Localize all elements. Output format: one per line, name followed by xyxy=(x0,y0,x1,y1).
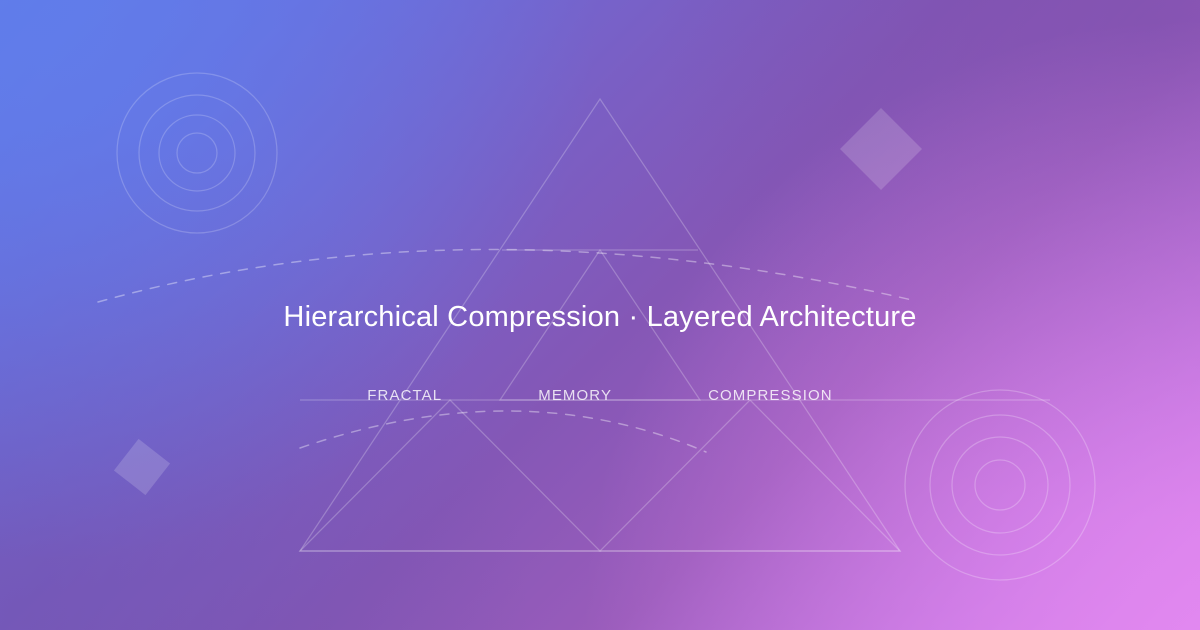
page-title: Hierarchical Compression · Layered Archi… xyxy=(283,300,916,335)
hero-tag-memory: MEMORY xyxy=(538,387,612,404)
hero-tag-compression: COMPRESSION xyxy=(708,387,833,404)
hero-banner: Hierarchical Compression · Layered Archi… xyxy=(0,0,1200,630)
ring-mid-outer-icon xyxy=(139,95,255,211)
hero-tag-fractal: FRACTAL xyxy=(367,387,442,404)
hero-content: Hierarchical Compression · Layered Archi… xyxy=(0,300,1200,404)
ring-mid-outer-icon xyxy=(930,415,1070,555)
bottom-left-triangle xyxy=(300,400,600,551)
ring-inner-icon xyxy=(975,460,1025,510)
rings-bottom-right xyxy=(905,390,1095,580)
bottom-right-triangle xyxy=(600,400,900,551)
dashed-arc-lower xyxy=(300,411,706,452)
ring-outer-icon xyxy=(905,390,1095,580)
dashed-arc-upper xyxy=(98,249,912,302)
ring-mid-inner-icon xyxy=(952,437,1048,533)
diamond-bottom-left xyxy=(114,439,170,495)
ring-mid-inner-icon xyxy=(159,115,235,191)
rings-top-left xyxy=(117,73,277,233)
diamond-top-right xyxy=(840,108,922,190)
hero-tag-list: FRACTAL MEMORY COMPRESSION xyxy=(367,387,832,404)
ring-outer-icon xyxy=(117,73,277,233)
ring-inner-icon xyxy=(177,133,217,173)
